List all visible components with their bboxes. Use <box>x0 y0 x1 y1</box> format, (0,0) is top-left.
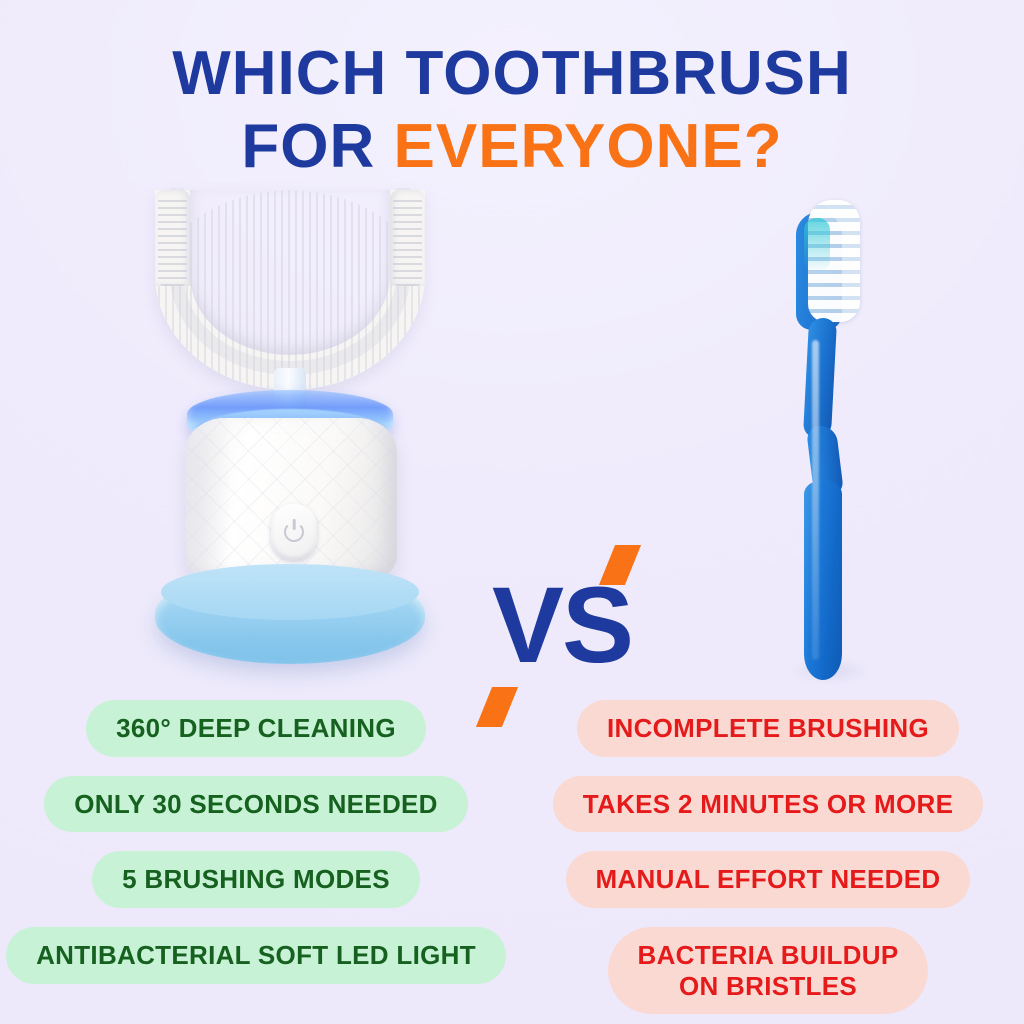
feature-comparison-columns: 360° DEEP CLEANING ONLY 30 SECONDS NEEDE… <box>0 694 1024 1024</box>
headline-line-2: FOR EVERYONE? <box>0 115 1024 178</box>
pro-pill: ONLY 30 SECONDS NEEDED <box>44 776 468 833</box>
u-mouthpiece-arm-left <box>155 190 190 286</box>
headline-line-1: WHICH TOOTHBRUSH <box>0 42 1024 105</box>
brush-handle <box>804 480 842 680</box>
arm-bristle-texture-right <box>393 196 422 286</box>
pro-pill: 5 BRUSHING MODES <box>92 851 420 908</box>
page-title: WHICH TOOTHBRUSH FOR EVERYONE? <box>0 42 1024 178</box>
cons-column: INCOMPLETE BRUSHING TAKES 2 MINUTES OR M… <box>512 694 1024 1024</box>
headline-line-2-accent: EVERYONE? <box>393 112 782 181</box>
u-mouthpiece-arm-right <box>390 190 425 286</box>
con-pill: INCOMPLETE BRUSHING <box>577 700 959 757</box>
charging-base-top <box>161 564 419 620</box>
brush-bristles <box>808 200 860 322</box>
versus-label: VS <box>462 571 662 679</box>
u-shaped-electric-toothbrush-image <box>145 190 435 690</box>
body-diamond-texture <box>185 418 397 586</box>
power-button[interactable] <box>271 504 317 560</box>
headline-line-2-prefix: FOR <box>241 112 393 181</box>
u-mouthpiece <box>145 190 435 395</box>
u-mouthpiece-bristle-texture <box>155 190 425 390</box>
con-pill: MANUAL EFFORT NEEDED <box>566 851 971 908</box>
product-comparison-stage: VS <box>0 180 1024 690</box>
manual-toothbrush-image <box>760 190 900 690</box>
handle-body <box>185 418 397 586</box>
pros-column: 360° DEEP CLEANING ONLY 30 SECONDS NEEDE… <box>0 694 512 1024</box>
brush-highlight <box>812 340 819 660</box>
brush-neck <box>803 318 837 438</box>
con-pill: BACTERIA BUILDUP ON BRISTLES <box>608 927 929 1014</box>
arm-bristle-texture-left <box>158 196 187 286</box>
pro-pill: ANTIBACTERIAL SOFT LED LIGHT <box>6 927 506 984</box>
con-pill: TAKES 2 MINUTES OR MORE <box>553 776 983 833</box>
power-icon <box>284 522 304 542</box>
pro-pill: 360° DEEP CLEANING <box>86 700 426 757</box>
